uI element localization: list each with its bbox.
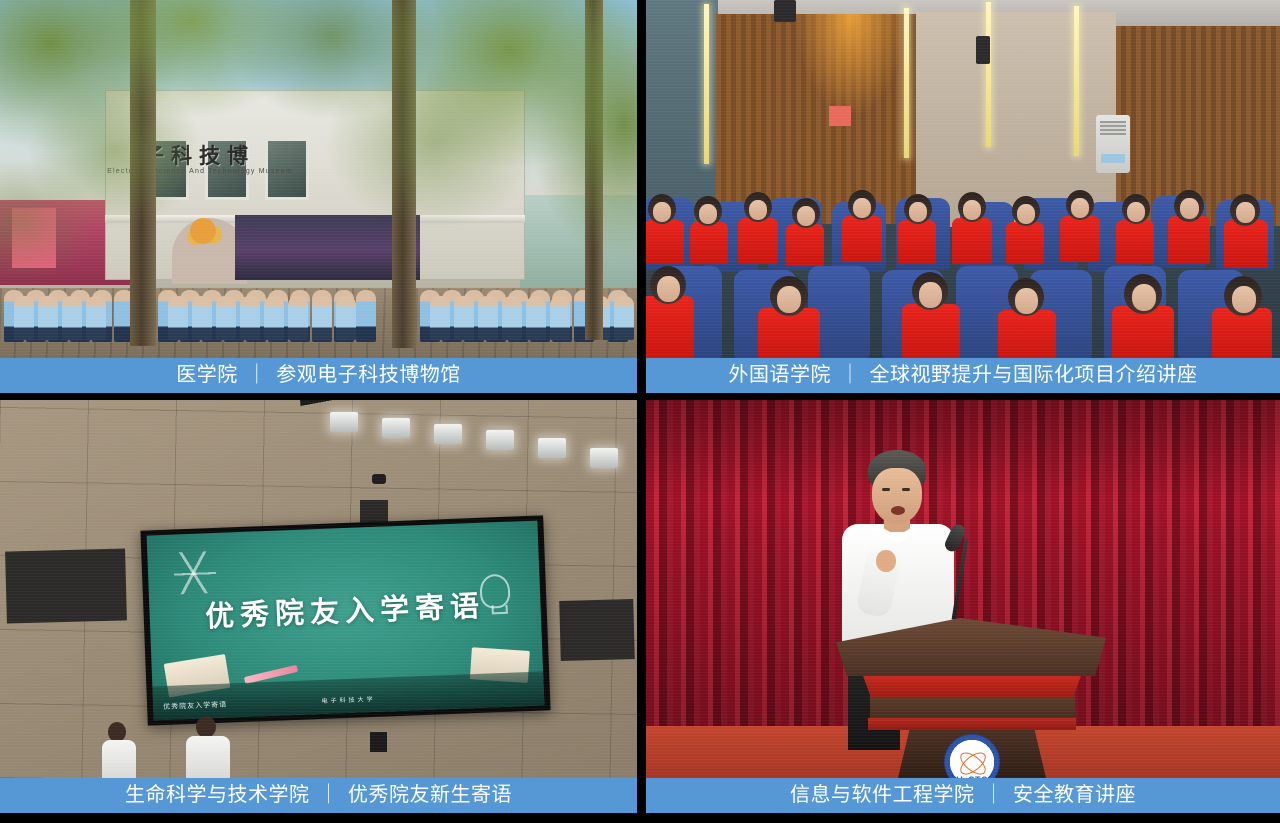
podium: UeSTC (836, 618, 1106, 778)
caption-bar-bottom-right: 信息与软件工程学院 ｜ 安全教育讲座 (646, 778, 1280, 813)
caption-bar-top-left: 医学院 ｜ 参观电子科技博物馆 (0, 358, 637, 393)
led-screen: 优秀院友入学寄语 优秀院友入学寄语 电子科技大学 (147, 521, 545, 721)
caption-separator: ｜ (310, 784, 349, 807)
caption-separator: ｜ (831, 364, 870, 387)
caption-separator: ｜ (975, 784, 1014, 807)
speaker-eye (882, 488, 890, 491)
caption-event: 参观电子科技博物馆 (276, 364, 461, 387)
photo-auditorium-audience (646, 0, 1280, 358)
photo-museum-group: 子科技博 Electronic Science And Technology M… (0, 0, 637, 358)
panel-bottom-left[interactable]: 优秀院友入学寄语 优秀院友入学寄语 电子科技大学 生命科学与技术学院 ｜ 优秀院… (0, 400, 637, 823)
panel-top-right[interactable]: 外国语学院 ｜ 全球视野提升与国际化项目介绍讲座 (646, 0, 1280, 393)
ceiling-speaker (774, 0, 796, 22)
stage-light (330, 412, 358, 432)
caption-separator: ｜ (238, 364, 277, 387)
grid-gutter-horizontal (0, 393, 1280, 400)
light-strip (986, 2, 991, 147)
caption-event: 优秀院友新生寄语 (348, 784, 512, 807)
atom-icon (957, 747, 987, 777)
doodle-sun-rays (173, 551, 217, 595)
panel-top-left[interactable]: 子科技博 Electronic Science And Technology M… (0, 0, 637, 393)
wall-dark-panel (559, 599, 635, 661)
spotlight-glow (796, 14, 906, 114)
caption-school: 外国语学院 (729, 364, 832, 387)
photo-speaker-podium: UeSTC (646, 400, 1280, 778)
caption-school: 医学院 (176, 364, 238, 387)
caption-bar-bottom-left: 生命科学与技术学院 ｜ 优秀院友新生寄语 (0, 778, 637, 813)
panel-bottom-right[interactable]: UeSTC 信息与软件工程学院 ｜ 安全教育讲座 (646, 400, 1280, 823)
audience-rows (646, 158, 1280, 358)
caption-event: 全球视野提升与国际化项目介绍讲座 (870, 364, 1198, 387)
speaker-eye (902, 488, 910, 491)
stage-light (486, 430, 514, 450)
grid-gutter-vertical (637, 0, 646, 823)
caption-event: 安全教育讲座 (1013, 784, 1136, 807)
light-strip (1074, 6, 1079, 156)
led-screen-frame: 优秀院友入学寄语 优秀院友入学寄语 电子科技大学 (140, 515, 550, 725)
tree-foliage (0, 0, 637, 358)
speaker-mouth (891, 506, 905, 515)
exit-sign (370, 732, 387, 752)
wall-speaker (976, 36, 990, 64)
light-strip (704, 4, 709, 164)
podium-red-band (862, 673, 1082, 697)
wall-dark-panel (5, 548, 127, 623)
podium-red-band (868, 718, 1076, 730)
person-right (186, 716, 234, 778)
person-left (100, 722, 140, 778)
stage-light (434, 424, 462, 444)
caption-school: 生命科学与技术学院 (125, 784, 310, 807)
caption-school: 信息与软件工程学院 (790, 784, 975, 807)
stage-light (590, 448, 618, 468)
ceiling-camera (372, 474, 386, 484)
speaker-hand (876, 550, 896, 572)
wall-notice (829, 106, 851, 126)
stage-light (538, 438, 566, 458)
photo-lecture-hall-screen: 优秀院友入学寄语 优秀院友入学寄语 电子科技大学 (0, 400, 637, 778)
podium-top (836, 618, 1106, 676)
speaker-face (872, 468, 922, 524)
photo-grid: 子科技博 Electronic Science And Technology M… (0, 0, 1280, 823)
stage-light (382, 418, 410, 438)
caption-bar-top-right: 外国语学院 ｜ 全球视野提升与国际化项目介绍讲座 (646, 358, 1280, 393)
